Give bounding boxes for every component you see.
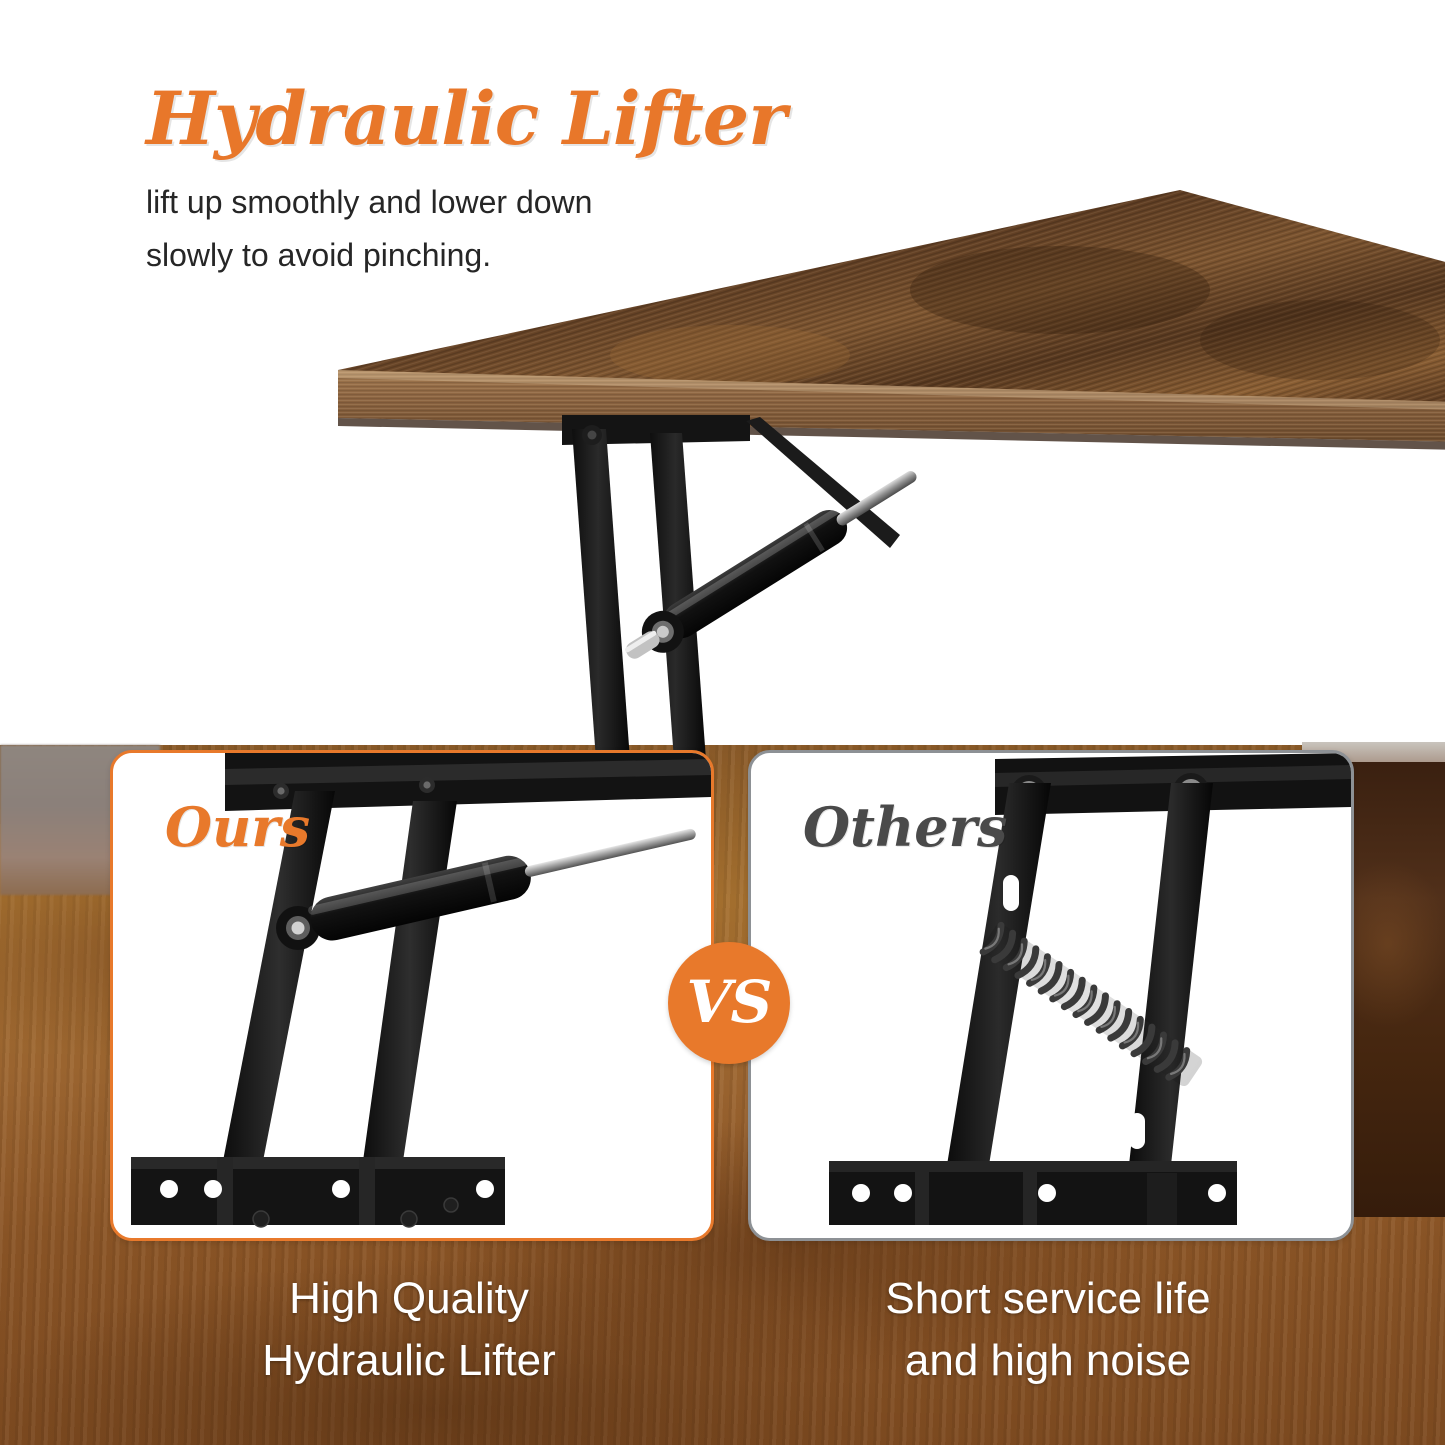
- comparison-card-others[interactable]: Others: [748, 750, 1354, 1241]
- ours-base-hole-2: [204, 1180, 222, 1198]
- ours-leg-right: [363, 801, 457, 1161]
- others-base-rib-2: [1023, 1161, 1037, 1225]
- others-slot-left: [1003, 875, 1019, 911]
- others-base-hole-4: [1208, 1184, 1226, 1202]
- others-base-hole-2: [894, 1184, 912, 1202]
- others-base-tab: [1147, 1173, 1177, 1225]
- ours-base-rib-2: [359, 1157, 375, 1225]
- hero-lift-frame: [500, 415, 940, 755]
- ours-base-dimple-3: [444, 1198, 458, 1212]
- vs-badge-label: VS: [687, 973, 772, 1031]
- page-title: Hydraulic Lifter: [146, 76, 786, 162]
- card-label-ours: Ours: [165, 795, 310, 859]
- others-base-hole-1: [852, 1184, 870, 1202]
- infographic-canvas: Ours: [0, 0, 1445, 1445]
- others-slot-right: [1129, 1113, 1145, 1149]
- ours-base-dimple-2: [401, 1211, 417, 1227]
- comparison-card-ours[interactable]: Ours: [110, 750, 714, 1241]
- caption-ours: High Quality Hydraulic Lifter: [110, 1268, 708, 1392]
- ours-base-hole-3: [332, 1180, 350, 1198]
- others-arm-right: [1129, 783, 1213, 1165]
- ours-base-hole-4: [476, 1180, 494, 1198]
- page-subtitle: lift up smoothly and lower down slowly t…: [146, 176, 592, 282]
- frame-bar-left: [572, 429, 630, 760]
- card-label-others: Others: [803, 795, 1007, 859]
- ours-base-dimple-1: [253, 1211, 269, 1227]
- ours-base-hole-1: [160, 1180, 178, 1198]
- others-base-hole-3: [1038, 1184, 1056, 1202]
- ours-gas-strut: [306, 813, 701, 945]
- ours-strut-rod: [524, 828, 697, 878]
- others-base-rib-1: [915, 1161, 929, 1225]
- vs-badge: VS: [668, 942, 790, 1064]
- caption-others: Short service life and high noise: [748, 1268, 1348, 1392]
